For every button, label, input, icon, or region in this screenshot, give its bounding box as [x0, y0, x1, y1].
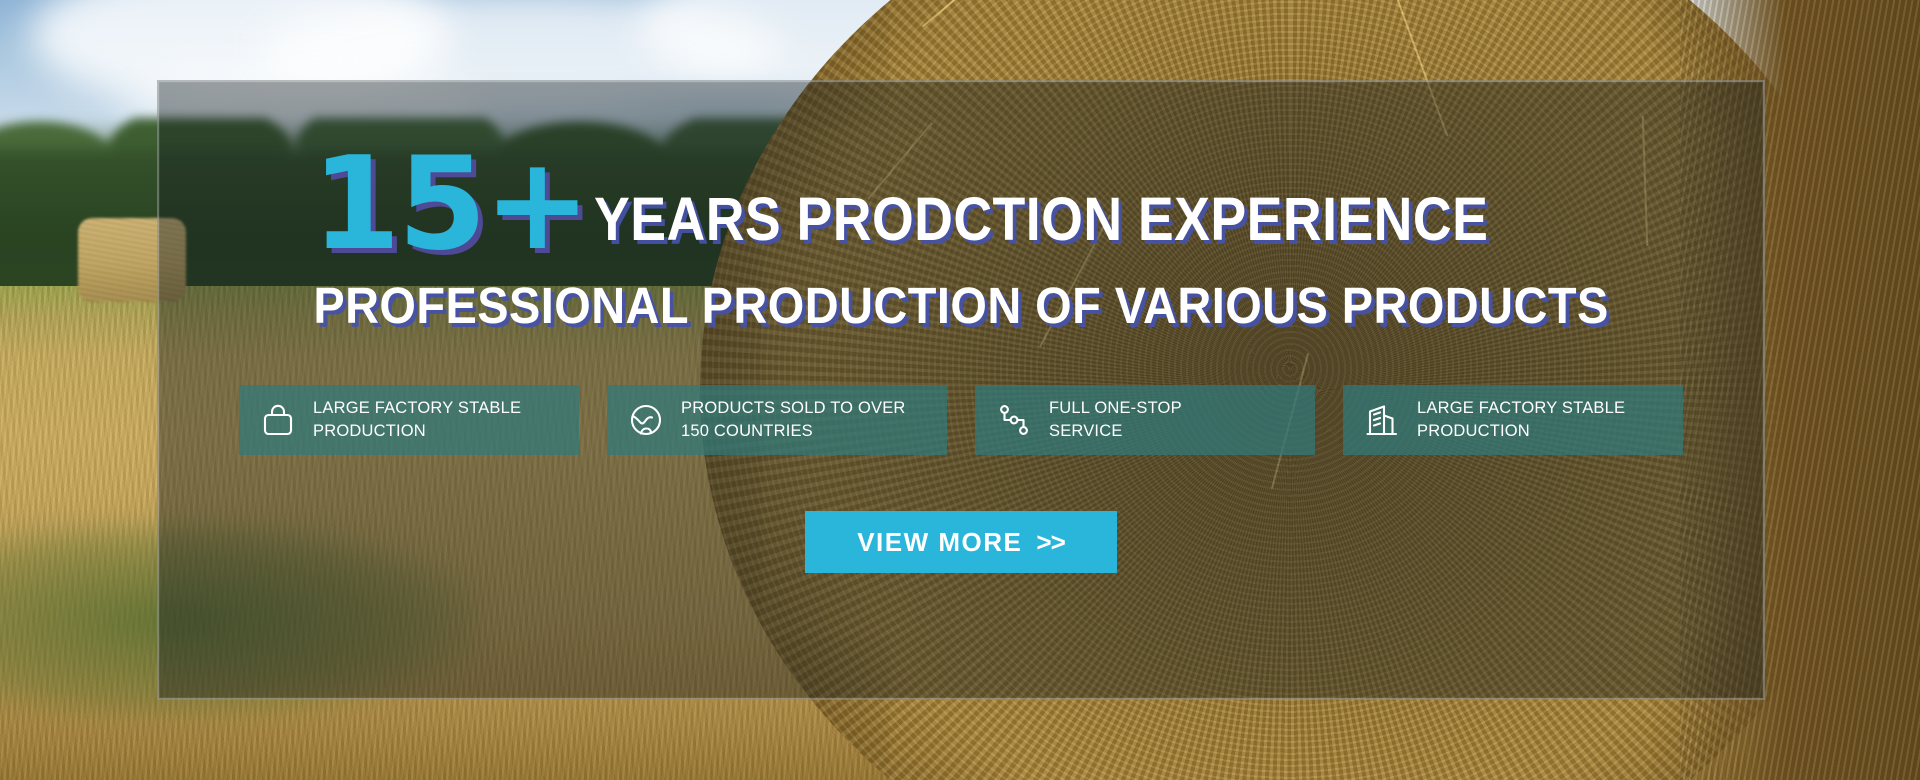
- feature-label-line1: LARGE FACTORY STABLE: [313, 399, 521, 417]
- nodes-flow-icon: [993, 399, 1035, 441]
- globe-icon: [625, 399, 667, 441]
- headline-line-1: YEARS PRODCTION EXPERIENCE: [594, 189, 1488, 250]
- headline-primary-row: 15+ YEARS PRODCTION EXPERIENCE: [312, 142, 1611, 252]
- double-chevron-right-icon: >>: [1036, 527, 1064, 558]
- feature-label: FULL ONE-STOP SERVICE: [1049, 397, 1182, 443]
- promo-banner: 15+ YEARS PRODCTION EXPERIENCE PROFESSIO…: [0, 0, 1920, 780]
- years-count: 15+: [312, 150, 588, 260]
- feature-label-line2: PRODUCTION: [313, 422, 426, 440]
- feature-list: LARGE FACTORY STABLE PRODUCTION PRODUCTS…: [239, 385, 1683, 455]
- straw-strand: [922, 0, 1008, 27]
- feature-label-line2: 150 COUNTRIES: [681, 422, 813, 440]
- feature-item-factory-building[interactable]: LARGE FACTORY STABLE PRODUCTION: [1343, 385, 1683, 455]
- feature-label-line2: SERVICE: [1049, 422, 1123, 440]
- feature-item-factory-production[interactable]: LARGE FACTORY STABLE PRODUCTION: [239, 385, 579, 455]
- feature-item-countries[interactable]: PRODUCTS SOLD TO OVER 150 COUNTRIES: [607, 385, 947, 455]
- feature-label: LARGE FACTORY STABLE PRODUCTION: [1417, 397, 1625, 443]
- feature-label: PRODUCTS SOLD TO OVER 150 COUNTRIES: [681, 397, 906, 443]
- view-more-button[interactable]: VIEW MORE >>: [805, 511, 1117, 573]
- feature-label-line1: PRODUCTS SOLD TO OVER: [681, 399, 906, 417]
- feature-label-line2: PRODUCTION: [1417, 422, 1530, 440]
- view-more-label: VIEW MORE: [857, 527, 1022, 558]
- shopping-bag-icon: [257, 399, 299, 441]
- feature-label-line1: LARGE FACTORY STABLE: [1417, 399, 1625, 417]
- headline-line-2: PROFESSIONAL PRODUCTION OF VARIOUS PRODU…: [313, 280, 1608, 331]
- factory-building-icon: [1361, 399, 1403, 441]
- feature-item-one-stop-service[interactable]: FULL ONE-STOP SERVICE: [975, 385, 1315, 455]
- banner-content: 15+ YEARS PRODCTION EXPERIENCE PROFESSIO…: [157, 80, 1765, 700]
- feature-label: LARGE FACTORY STABLE PRODUCTION: [313, 397, 521, 443]
- feature-label-line1: FULL ONE-STOP: [1049, 399, 1182, 417]
